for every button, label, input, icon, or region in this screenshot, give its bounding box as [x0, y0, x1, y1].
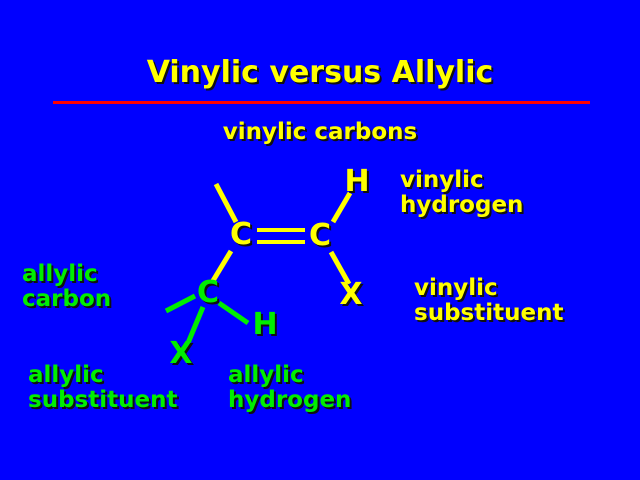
- label-allylic-carbon: allylic carbon: [22, 262, 111, 311]
- label-allylic-substituent: allylic substituent: [28, 363, 177, 412]
- slide-canvas: Vinylic versus Allylic vinylic carbons v…: [0, 0, 640, 480]
- label-allylic-hydrogen: allylic hydrogen: [228, 363, 351, 412]
- atom-substituent-vinylic: X: [339, 280, 362, 310]
- bond-allylic-to-h: [219, 303, 248, 323]
- atom-hydrogen-vinylic: H: [344, 167, 369, 197]
- atom-carbon-allylic: C: [197, 278, 219, 308]
- label-vinylic-substituent: vinylic substituent: [414, 276, 563, 325]
- atom-carbon-right: C: [309, 221, 331, 251]
- title-divider-rule: [53, 101, 590, 104]
- atom-carbon-left: C: [230, 220, 252, 250]
- bond-allylic-upleft-stub: [166, 296, 195, 311]
- label-vinylic-carbons: vinylic carbons: [0, 120, 640, 145]
- label-vinylic-hydrogen: vinylic hydrogen: [400, 168, 523, 217]
- page-title: Vinylic versus Allylic: [0, 57, 640, 89]
- atom-hydrogen-allylic: H: [252, 310, 277, 340]
- atom-substituent-allylic: X: [169, 339, 192, 369]
